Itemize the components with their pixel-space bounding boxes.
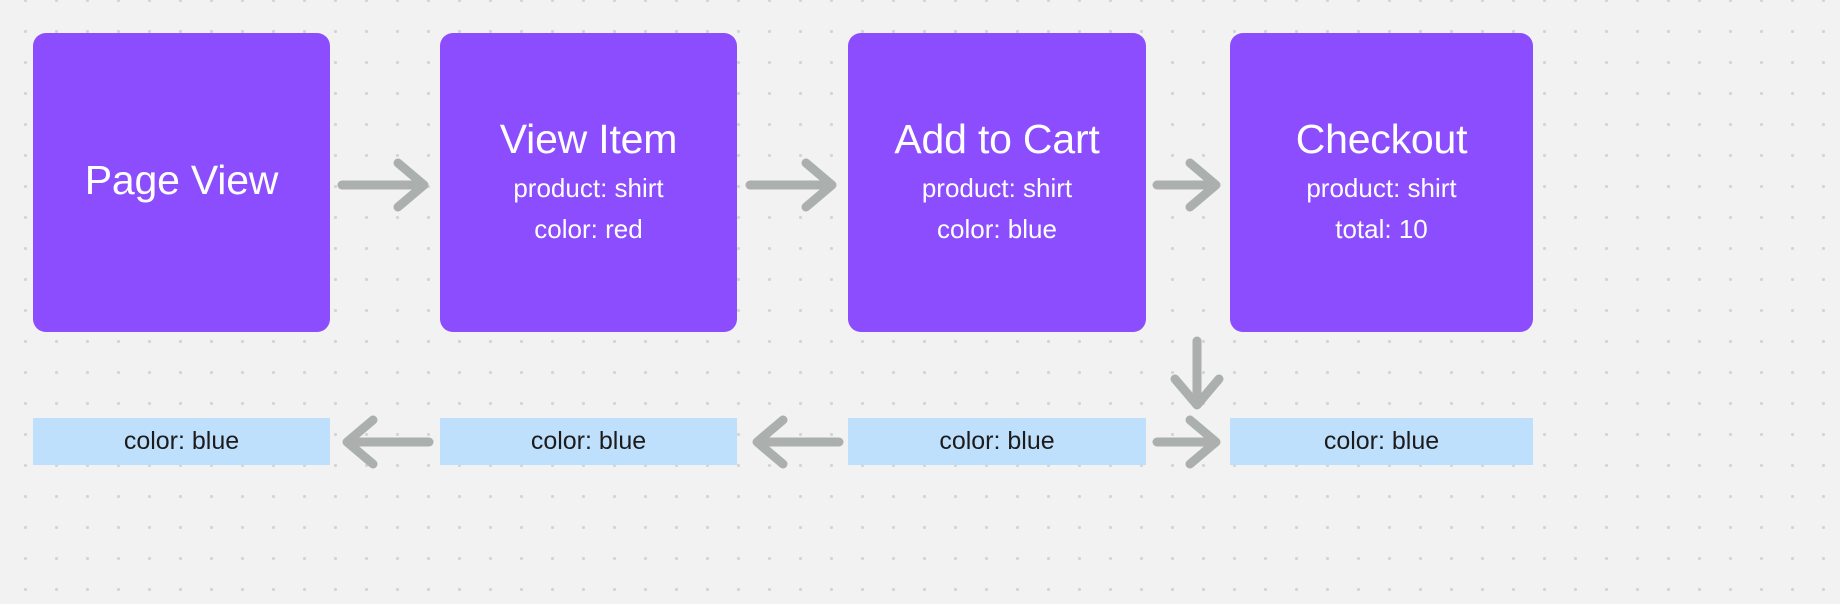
event-node-property: total: 10 [1335,209,1428,250]
event-node-page-view[interactable]: Page View [33,33,330,332]
connector-view-item-to-add-to-cart [746,157,841,213]
property-badge-4[interactable]: color: blue [1230,418,1533,465]
connector-add-to-cart-to-badge [1142,337,1252,415]
event-node-properties: product: shirt total: 10 [1306,168,1456,250]
connector-add-to-cart-to-checkout [1153,157,1225,213]
connector-badge2-to-badge1 [338,414,433,470]
event-node-property: color: red [534,209,642,250]
connector-badge3-to-badge2 [748,414,843,470]
event-node-property: product: shirt [922,168,1072,209]
event-node-property: product: shirt [1306,168,1456,209]
event-node-title: Checkout [1296,115,1468,163]
property-badge-label: color: blue [124,429,239,454]
event-node-view-item[interactable]: View Item product: shirt color: red [440,33,737,332]
connector-badge3-to-badge4 [1153,414,1225,470]
event-node-title: View Item [500,115,677,163]
property-badge-2[interactable]: color: blue [440,418,737,465]
event-node-add-to-cart[interactable]: Add to Cart product: shirt color: blue [848,33,1146,332]
event-node-title: Page View [85,156,278,204]
property-badge-3[interactable]: color: blue [848,418,1146,465]
flow-canvas[interactable]: Page View View Item product: shirt color… [0,0,1840,604]
property-badge-label: color: blue [531,429,646,454]
event-node-checkout[interactable]: Checkout product: shirt total: 10 [1230,33,1533,332]
property-badge-label: color: blue [939,429,1054,454]
event-node-title: Add to Cart [894,115,1099,163]
connector-page-view-to-view-item [338,157,433,213]
event-node-properties: product: shirt color: blue [922,168,1072,250]
property-badge-1[interactable]: color: blue [33,418,330,465]
event-node-properties: product: shirt color: red [513,168,663,250]
property-badge-label: color: blue [1324,429,1439,454]
event-node-property: product: shirt [513,168,663,209]
event-node-property: color: blue [937,209,1057,250]
